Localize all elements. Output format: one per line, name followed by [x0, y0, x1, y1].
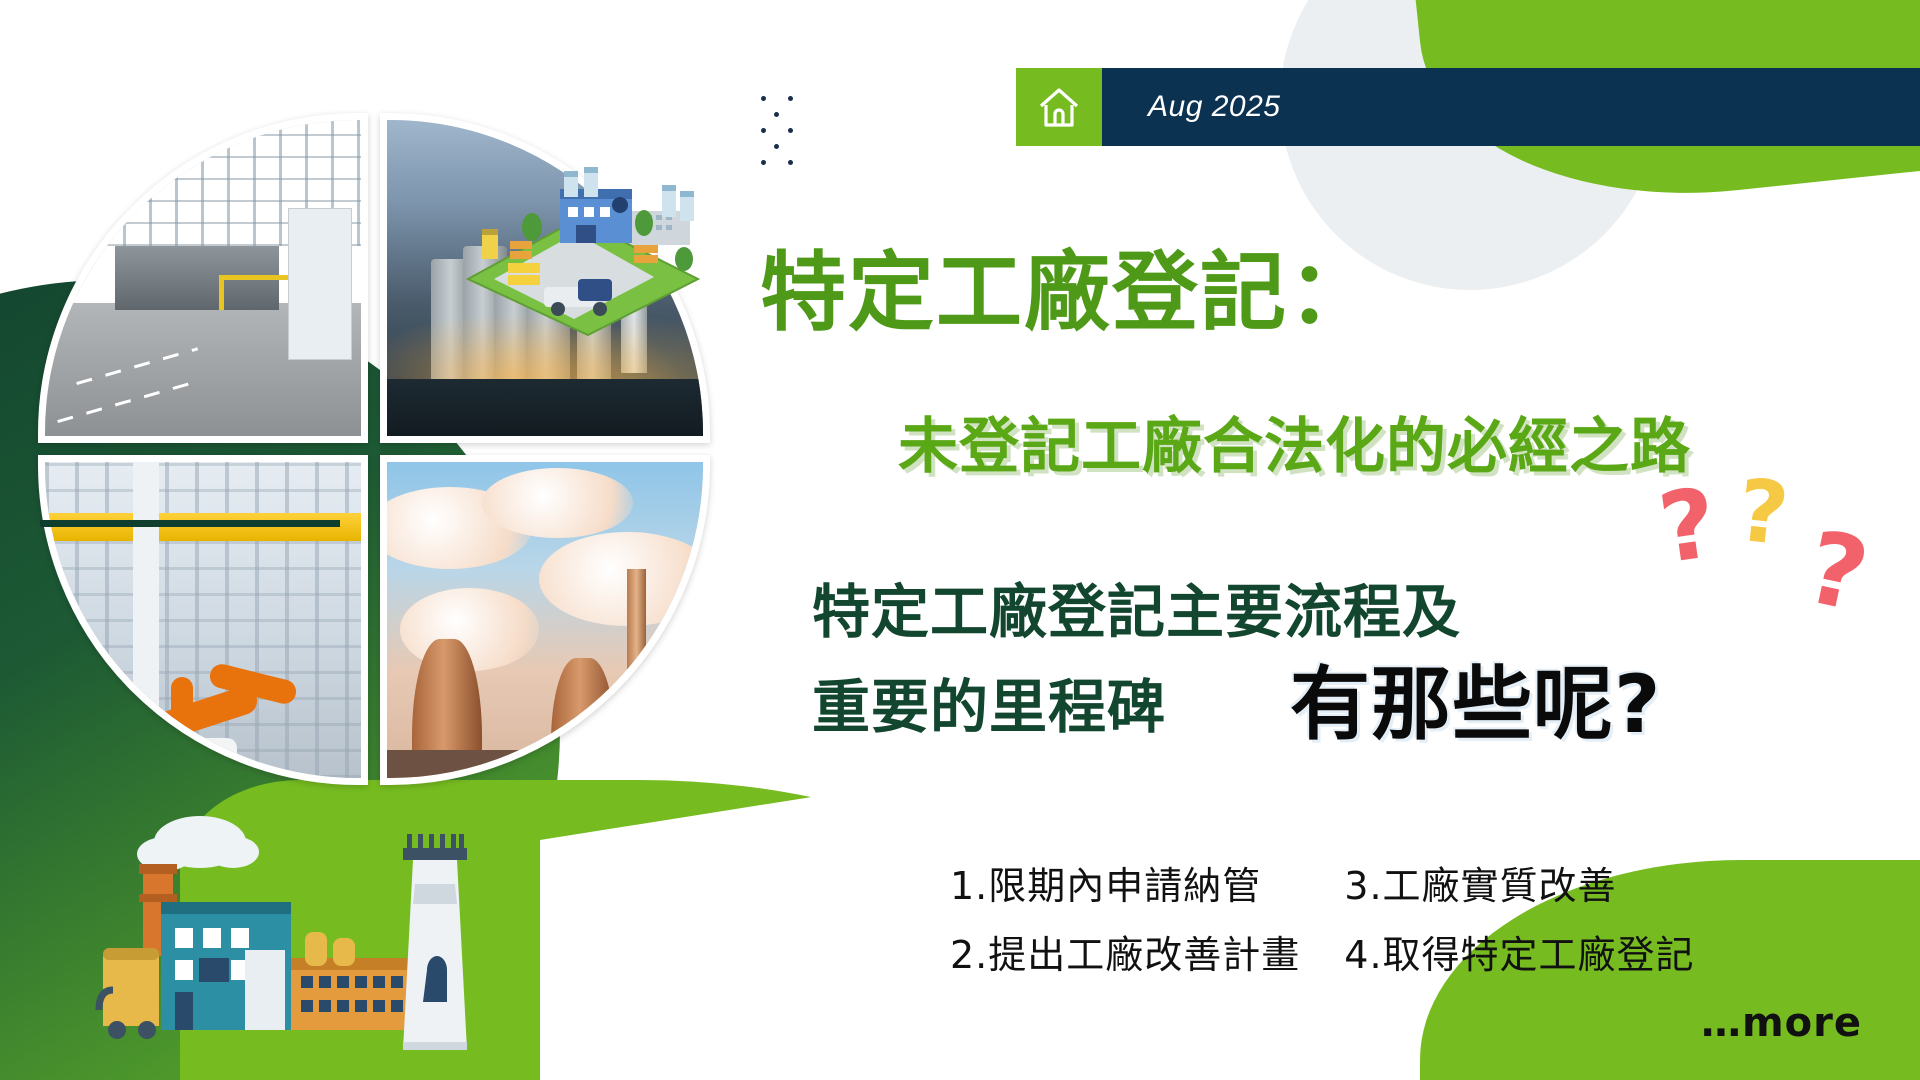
hero-title-line-4: 重要的里程碑	[812, 660, 1166, 744]
more-link[interactable]: …more	[1701, 1000, 1862, 1046]
isometric-factory-illustration	[448, 167, 708, 337]
step-item: 3.工廠實質改善	[1344, 855, 1694, 910]
step-item: 2.提出工廠改善計畫	[950, 924, 1300, 979]
photo-robotic-assembly-line	[38, 455, 368, 785]
photo-factory-interior-hall	[38, 113, 368, 443]
question-mark-icon: ?	[1654, 475, 1723, 578]
step-item: 1.限期內申請納管	[950, 855, 1300, 910]
question-mark-decoration: ? ? ?	[1660, 470, 1900, 660]
dot-grid-decoration	[757, 90, 797, 170]
hero-title-line-3: 特定工廠登記主要流程及	[812, 565, 1461, 649]
accent-line	[40, 520, 340, 527]
question-mark-icon: ?	[1734, 468, 1793, 559]
hero-question-text: 有那些呢?	[1290, 640, 1661, 756]
photo-collage	[30, 105, 720, 795]
steps-list: 1.限期內申請納管 3.工廠實質改善 2.提出工廠改善計畫 4.取得特定工廠登記	[950, 855, 1695, 979]
home-button[interactable]	[1016, 68, 1102, 146]
header-date-bar: Aug 2025	[1102, 68, 1920, 146]
photo-image	[45, 120, 361, 436]
photo-image	[45, 462, 361, 778]
home-icon	[1036, 84, 1082, 130]
hero-title-line-2: 未登記工廠合法化的必經之路	[898, 398, 1691, 485]
hero-title-line-1: 特定工廠登記：	[760, 222, 1376, 347]
lighthouse-illustration	[385, 820, 485, 1050]
photo-image	[387, 462, 703, 778]
header-bar: Aug 2025	[1016, 68, 1920, 146]
step-item: 4.取得特定工廠登記	[1344, 924, 1694, 979]
poster-canvas: Aug 2025	[0, 0, 1920, 1080]
issue-date: Aug 2025	[1148, 90, 1280, 124]
question-mark-icon: ?	[1798, 517, 1876, 627]
photo-cooling-towers-sunset	[380, 455, 710, 785]
